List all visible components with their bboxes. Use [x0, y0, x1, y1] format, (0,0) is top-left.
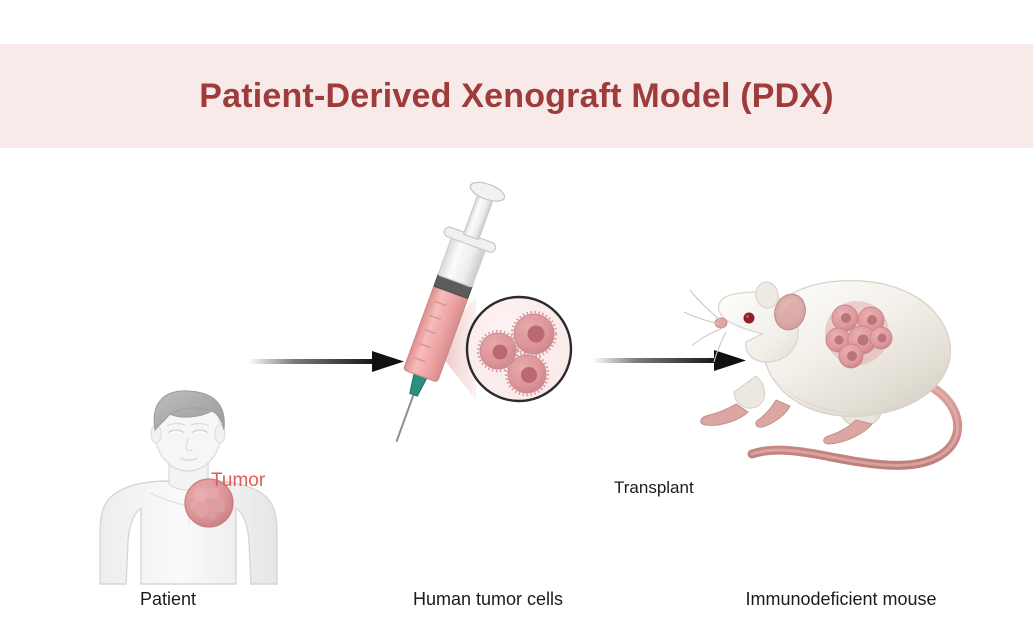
mouse-hind-paw: [824, 420, 872, 444]
page-title: Patient-Derived Xenograft Model (PDX): [199, 77, 834, 116]
caption-immunodeficient-mouse: Immunodeficient mouse: [718, 589, 964, 610]
mouse-eye: [744, 313, 755, 324]
pdx-workflow-illustration: [0, 148, 1033, 620]
tumor-annotation-label: Tumor: [211, 470, 265, 492]
mouse-foreleg: [734, 376, 765, 408]
mouse-illustration: [684, 280, 958, 465]
title-banner: Patient-Derived Xenograft Model (PDX): [0, 44, 1033, 148]
arrow-cells-to-mouse: [592, 350, 746, 371]
caption-patient: Patient: [78, 589, 258, 610]
transplant-arrow-label: Transplant: [614, 478, 694, 498]
mouse-eye-highlight: [746, 315, 749, 318]
caption-tumor-cells: Human tumor cells: [378, 589, 598, 610]
arrow-patient-to-cells: [248, 351, 404, 372]
mouse-forepaw: [701, 404, 748, 425]
diagram-canvas: Tumor Transplant Patient Human tumor cel…: [0, 148, 1033, 620]
syringe-needle: [396, 393, 414, 442]
tumor-cells-illustration: [371, 175, 571, 450]
